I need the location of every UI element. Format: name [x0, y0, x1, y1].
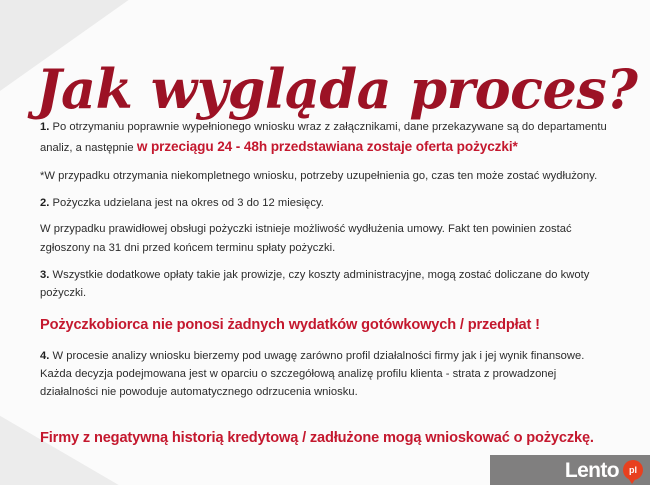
list-item-3: 3. Wszystkie dodatkowe opłaty takie jak … [40, 266, 612, 302]
watermark-brand-text: Lento [565, 460, 619, 481]
list-item-4-number: 4. [40, 350, 49, 362]
list-item-3-text: Wszystkie dodatkowe opłaty takie jak pro… [40, 269, 589, 299]
list-item-1: 1. Po otrzymaniu poprawnie wypełnionego … [40, 118, 612, 158]
footnote-text: *W przypadku otrzymania niekompletnego w… [40, 167, 612, 185]
list-item-4-text: W procesie analizy wniosku bierzemy pod … [40, 350, 584, 398]
list-item-1-highlight: w przeciągu 24 - 48h przedstawiana zosta… [137, 139, 518, 154]
list-item-2-note: W przypadku prawidłowej obsługi pożyczki… [40, 220, 612, 256]
highlighted-statement: Pożyczkobiorca nie ponosi żadnych wydatk… [40, 315, 612, 336]
body-content: 1. Po otrzymaniu poprawnie wypełnionego … [40, 118, 612, 449]
list-item-1-number: 1. [40, 121, 49, 133]
watermark: Lento pl [490, 455, 650, 485]
list-item-2-number: 2. [40, 197, 49, 209]
poster-canvas: Jak wygląda proces? 1. Po otrzymaniu pop… [0, 0, 650, 485]
list-item-2: 2. Pożyczka udzielana jest na okres od 3… [40, 194, 612, 212]
list-item-3-number: 3. [40, 269, 49, 281]
map-pin-icon: pl [623, 460, 643, 480]
closing-statement: Firmy z negatywną historią kredytową / z… [40, 427, 600, 449]
list-item-4: 4. W procesie analizy wniosku bierzemy p… [40, 347, 612, 401]
page-title: Jak wygląda proces? [36, 60, 616, 119]
list-item-2-text: Pożyczka udzielana jest na okres od 3 do… [49, 197, 324, 209]
watermark-badge-label: pl [629, 466, 637, 475]
